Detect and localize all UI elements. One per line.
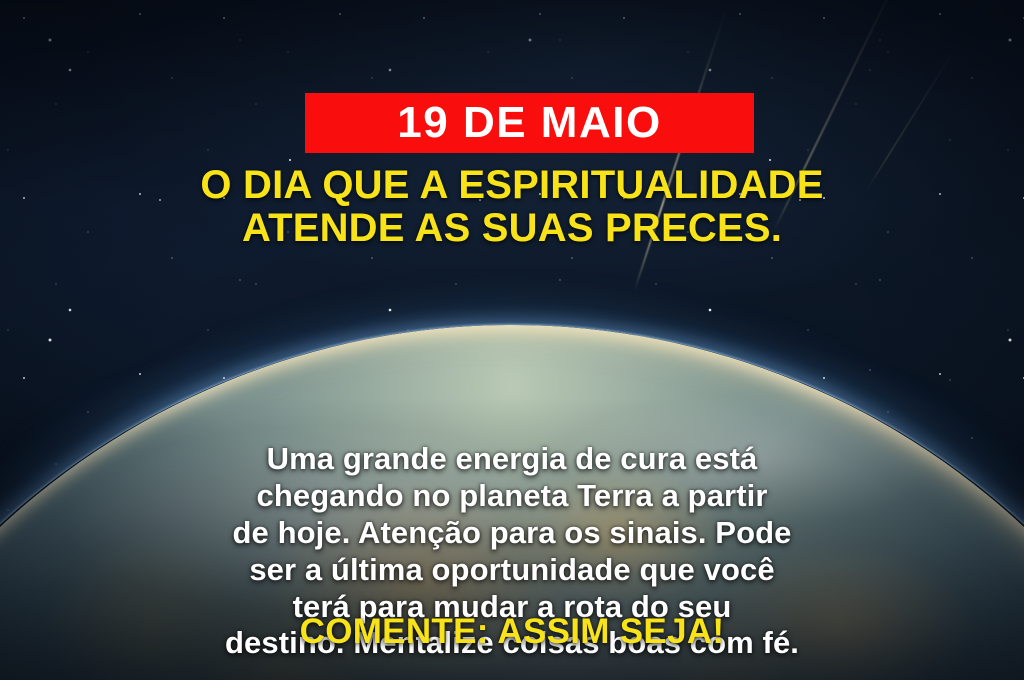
headline: O DIA QUE A ESPIRITUALIDADE ATENDE AS SU… [0,164,1024,250]
date-banner-label: 19 DE MAIO [397,101,661,145]
body-line-3: de hoje. Atenção para os sinais. Pode [40,515,984,552]
headline-line-2: ATENDE AS SUAS PRECES. [0,207,1024,250]
body-line-1: Uma grande energia de cura está [40,441,984,478]
date-banner: 19 DE MAIO [305,93,754,153]
body-line-4: ser a última oportunidade que você [40,552,984,589]
headline-line-1: O DIA QUE A ESPIRITUALIDADE [0,164,1024,207]
bottom-strip [0,680,1024,685]
call-to-action-text: COMENTE: ASSIM SEJA! [0,613,1024,652]
poster-canvas: 19 DE MAIO O DIA QUE A ESPIRITUALIDADE A… [0,0,1024,685]
poster-content: 19 DE MAIO O DIA QUE A ESPIRITUALIDADE A… [0,0,1024,685]
body-line-2: chegando no planeta Terra a partir [40,478,984,515]
